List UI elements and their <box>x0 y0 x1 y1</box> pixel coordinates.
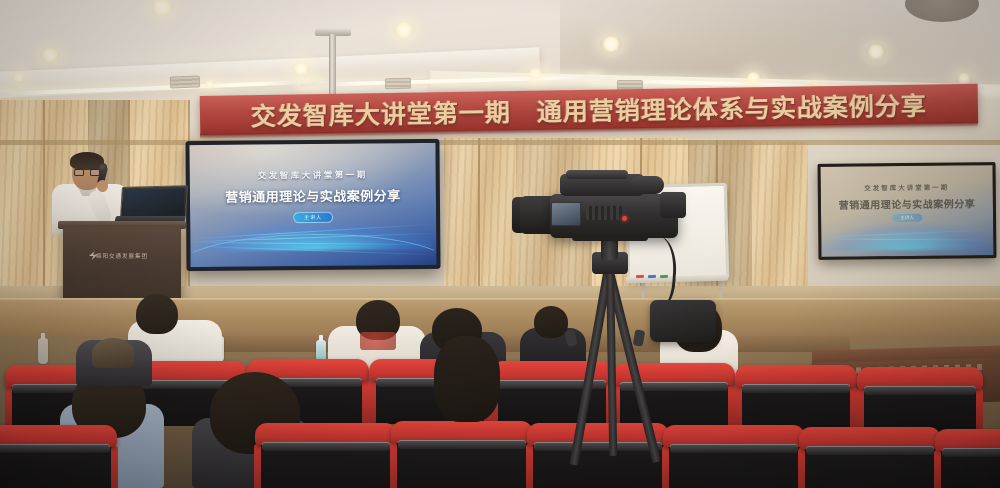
auditorium-seat <box>0 432 112 488</box>
slide-badge: 主讲人 <box>892 214 922 222</box>
panel-seam <box>43 100 45 308</box>
camera-microphone-icon <box>630 176 664 194</box>
audience-shirt-print <box>360 332 396 350</box>
podium-logo-text: 绵阳交通发展集团 <box>63 252 181 260</box>
wood-wall-panel-right-2 <box>752 142 808 308</box>
laptop-screen <box>123 188 185 216</box>
downlight-icon <box>393 22 415 38</box>
camera-control-panel <box>586 206 622 220</box>
water-bottle <box>38 338 48 364</box>
downlight-icon <box>527 68 544 80</box>
auditorium-seat <box>260 430 392 488</box>
auditorium-seat <box>940 436 1000 488</box>
downlight-icon <box>600 36 622 52</box>
downlight-icon <box>292 62 310 75</box>
auditorium-seat <box>532 430 664 488</box>
slide-title: 交发智库大讲堂第一期 <box>821 181 993 193</box>
auditorium-seat <box>396 428 528 488</box>
downlight-icon <box>12 72 26 82</box>
slide-title: 交发智库大讲堂第一期 <box>190 168 436 182</box>
laptop-lid <box>120 185 188 219</box>
audience-person-head <box>136 294 178 334</box>
auditorium-seat <box>668 432 800 488</box>
slide-subtitle: 营销通用理论与实战案例分享 <box>821 195 993 212</box>
camera-lcd-screen <box>551 202 581 226</box>
slide-badge: 主讲人 <box>293 212 333 223</box>
air-vent <box>170 75 200 88</box>
downlight-icon <box>745 72 762 84</box>
camera-bag <box>650 300 716 342</box>
downlight-icon <box>203 80 216 89</box>
audience-person-head <box>434 336 500 422</box>
wall-trim <box>0 140 1000 145</box>
air-vent <box>385 78 411 89</box>
slide-wave-glow <box>825 223 990 251</box>
audience-person-head <box>92 338 134 368</box>
auditorium-seat <box>740 372 852 430</box>
camera-rec-indicator <box>622 216 627 221</box>
speaker-hand <box>97 180 108 192</box>
downlight-icon <box>956 73 972 84</box>
secondary-projection-screen: 交发智库大讲堂第一期 营销通用理论与实战案例分享 主讲人 <box>818 162 997 260</box>
slide-subtitle: 营销通用理论与实战案例分享 <box>190 185 436 206</box>
wood-wall-panel-center <box>444 138 516 308</box>
podium: 绵阳交通发展集团 <box>63 226 181 300</box>
camera-viewfinder <box>660 192 686 218</box>
microphone-head-icon <box>98 163 107 171</box>
main-projection-screen: 交发智库大讲堂第一期 营销通用理论与实战案例分享 主讲人 <box>185 139 440 271</box>
downlight-icon <box>866 44 886 59</box>
auditorium-seat <box>862 374 978 432</box>
downlight-icon <box>40 48 60 62</box>
panel-seam <box>478 138 480 308</box>
audience-person-head <box>534 306 568 338</box>
speaker-glasses-icon <box>74 169 100 176</box>
auditorium-seat <box>804 434 936 488</box>
tripod-column <box>601 238 618 260</box>
conference-hall-photo: 交发智库大讲堂第一期 通用营销理论体系与实战案例分享 交发智库大讲堂第一期 营销… <box>0 0 1000 488</box>
camera-carry-handle <box>566 170 628 179</box>
